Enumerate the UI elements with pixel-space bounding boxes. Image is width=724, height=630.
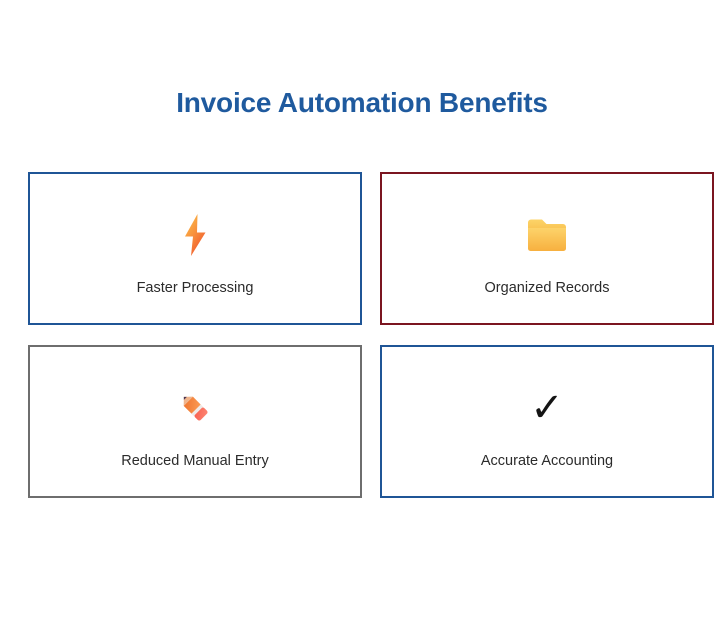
lightning-bolt-icon [167, 212, 223, 258]
benefit-card-organized-records[interactable]: Organized Records [380, 172, 714, 325]
benefit-card-label: Reduced Manual Entry [121, 452, 269, 470]
folder-icon [519, 212, 575, 258]
benefits-card-grid: Faster Processing [28, 172, 714, 498]
benefits-page: Invoice Automation Benefits Faster Proce… [0, 0, 724, 630]
check-mark-glyph: ✓ [530, 388, 564, 428]
benefit-card-label: Accurate Accounting [481, 452, 613, 470]
pencil-icon [167, 385, 223, 431]
check-mark-icon: ✓ [519, 385, 575, 431]
benefit-card-reduced-manual-entry[interactable]: Reduced Manual Entry [28, 345, 362, 498]
page-title: Invoice Automation Benefits [0, 86, 724, 120]
benefit-card-faster-processing[interactable]: Faster Processing [28, 172, 362, 325]
benefit-card-accurate-accounting[interactable]: ✓ Accurate Accounting [380, 345, 714, 498]
benefit-card-label: Faster Processing [137, 279, 254, 297]
benefit-card-label: Organized Records [485, 279, 610, 297]
